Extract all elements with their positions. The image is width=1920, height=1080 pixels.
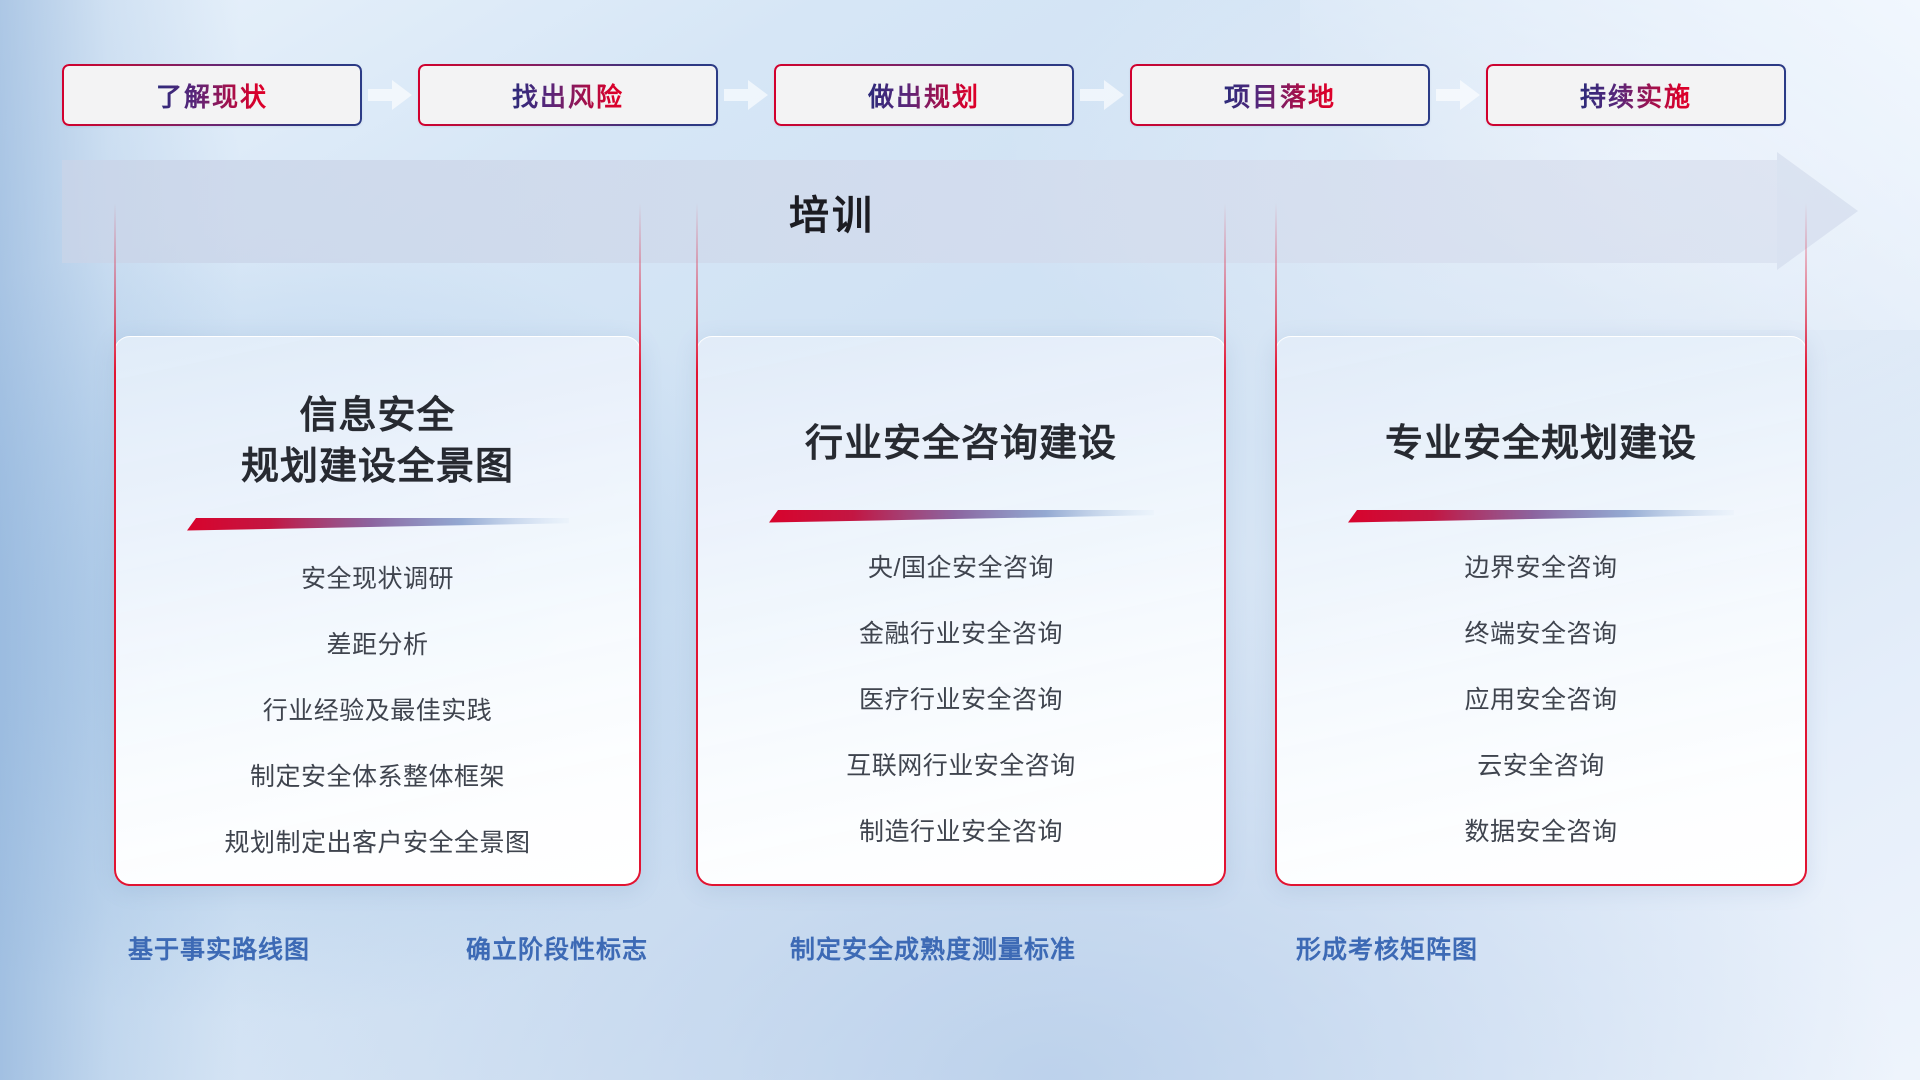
card-item-list: 边界安全咨询 终端安全咨询 应用安全咨询 云安全咨询 数据安全咨询 xyxy=(1276,556,1806,845)
step-arrow-icon-2 xyxy=(718,78,774,112)
card-professional-security-planning[interactable]: 专业安全规划建设 边界安全咨询 终端安全咨询 应用安全咨询 云安全 xyxy=(1275,336,1807,886)
step-box-4[interactable]: 项目落地 xyxy=(1130,64,1430,126)
card-divider-icon xyxy=(769,510,1154,523)
list-item: 互联网行业安全咨询 xyxy=(697,754,1225,779)
list-item: 金融行业安全咨询 xyxy=(697,622,1225,647)
list-item: 规划制定出客户安全全景图 xyxy=(115,831,640,856)
card-item-list: 安全现状调研 差距分析 行业经验及最佳实践 制定安全体系整体框架 规划制定出客户… xyxy=(115,567,640,856)
step-box-2[interactable]: 找出风险 xyxy=(418,64,718,126)
step-arrow-icon-3 xyxy=(1074,78,1130,112)
list-item: 应用安全咨询 xyxy=(1276,688,1806,713)
card-information-security-blueprint[interactable]: 信息安全 规划建设全景图 安全现状调研 差距分析 行业经验及最佳实践 xyxy=(114,336,641,886)
banner-title: 培训 xyxy=(62,160,1602,263)
card-industry-security-consulting[interactable]: 行业安全咨询建设 央/国企安全咨询 金融行业安全咨询 医疗行业安全咨询 xyxy=(696,336,1226,886)
caption-roadmap: 基于事实路线图 xyxy=(128,930,310,966)
caption-row: 基于事实路线图 确立阶段性标志 制定安全成熟度测量标准 形成考核矩阵图 xyxy=(0,930,1920,976)
card-row: 信息安全 规划建设全景图 安全现状调研 差距分析 行业经验及最佳实践 xyxy=(0,336,1920,896)
step-label: 持续实施 xyxy=(1580,77,1692,114)
step-label: 做出规划 xyxy=(868,77,980,114)
step-label: 项目落地 xyxy=(1224,77,1336,114)
list-item: 云安全咨询 xyxy=(1276,754,1806,779)
process-step-row: 了解现状 找出风险 做出规划 项目落地 持续实施 xyxy=(62,63,1856,127)
caption-milestone: 确立阶段性标志 xyxy=(466,930,648,966)
list-item: 央/国企安全咨询 xyxy=(697,556,1225,581)
step-label: 了解现状 xyxy=(156,77,268,114)
caption-matrix: 形成考核矩阵图 xyxy=(1296,930,1478,966)
list-item: 数据安全咨询 xyxy=(1276,820,1806,845)
card-divider-icon xyxy=(187,518,569,531)
step-label: 找出风险 xyxy=(512,77,624,114)
step-box-5[interactable]: 持续实施 xyxy=(1486,64,1786,126)
caption-maturity: 制定安全成熟度测量标准 xyxy=(790,930,1076,966)
card-title: 信息安全 规划建设全景图 xyxy=(115,337,640,492)
list-item: 行业经验及最佳实践 xyxy=(115,699,640,724)
list-item: 安全现状调研 xyxy=(115,567,640,592)
step-arrow-icon-4 xyxy=(1430,78,1486,112)
training-banner: 培训 xyxy=(62,160,1858,263)
list-item: 医疗行业安全咨询 xyxy=(697,688,1225,713)
list-item: 制定安全体系整体框架 xyxy=(115,765,640,790)
card-item-list: 央/国企安全咨询 金融行业安全咨询 医疗行业安全咨询 互联网行业安全咨询 制造行… xyxy=(697,556,1225,845)
list-item: 边界安全咨询 xyxy=(1276,556,1806,581)
list-item: 终端安全咨询 xyxy=(1276,622,1806,647)
card-divider-icon xyxy=(1348,510,1734,523)
banner-arrow-head-icon xyxy=(1777,152,1858,270)
step-arrow-icon-1 xyxy=(362,78,418,112)
card-title: 行业安全咨询建设 xyxy=(697,337,1225,470)
card-title: 专业安全规划建设 xyxy=(1276,337,1806,470)
list-item: 差距分析 xyxy=(115,633,640,658)
step-box-1[interactable]: 了解现状 xyxy=(62,64,362,126)
list-item: 制造行业安全咨询 xyxy=(697,820,1225,845)
step-box-3[interactable]: 做出规划 xyxy=(774,64,1074,126)
